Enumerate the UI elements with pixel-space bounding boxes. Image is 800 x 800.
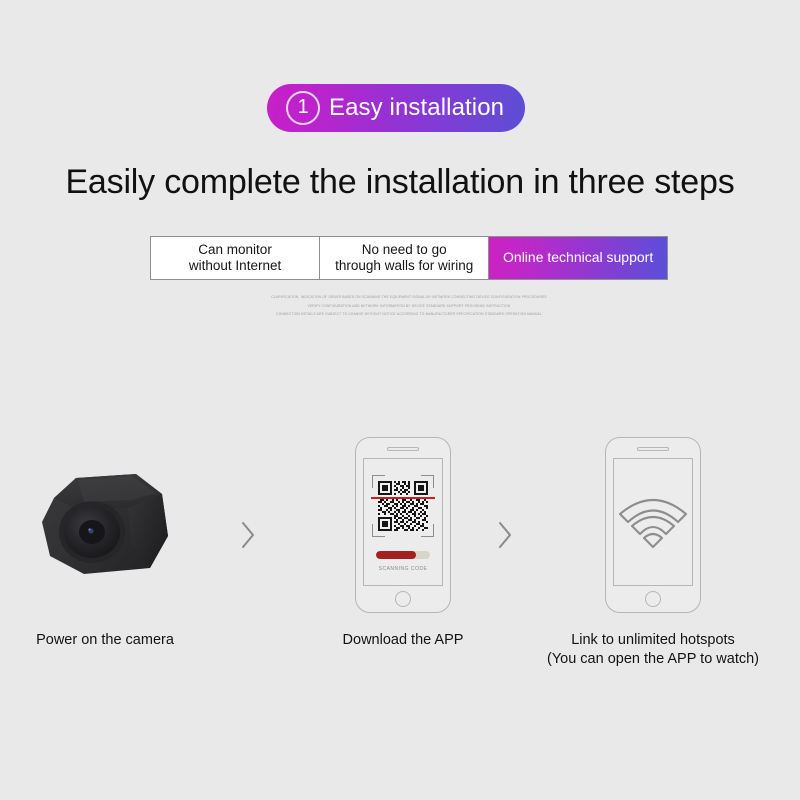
- feature-cell-no-wiring: No need to go through walls for wiring: [320, 237, 489, 279]
- mini-camera-illustration: [32, 464, 178, 586]
- step-caption-line-1: Download the APP: [278, 631, 528, 650]
- feature-cell-line-1: Can monitor: [189, 242, 281, 258]
- qr-scan-line: [371, 497, 435, 499]
- feature-cell-line-1: No need to go: [335, 242, 473, 258]
- feature-bar: Can monitor without Internet No need to …: [150, 236, 668, 280]
- step-badge-banner: 1 Easy installation: [267, 84, 525, 132]
- scan-progress-bar: [376, 551, 430, 559]
- step-2-caption: Download the APP: [278, 631, 528, 650]
- step-arrow-2: [490, 515, 520, 555]
- feature-cell-line-2: without Internet: [189, 258, 281, 274]
- step-3-caption: Link to unlimited hotspots (You can open…: [528, 631, 778, 669]
- phone-screen-wifi: [613, 458, 693, 586]
- feature-cell-online-support: Online technical support: [489, 237, 667, 279]
- phone-home-button-icon: [395, 591, 411, 607]
- step-1-visual: [0, 425, 230, 625]
- wifi-arcs: [616, 494, 690, 550]
- fine-print-line: VERIFY CONFIGURATION AND NETWORK INFORMA…: [150, 302, 668, 311]
- step-3-visual: [528, 425, 778, 625]
- phone-speaker-icon: [637, 447, 669, 451]
- step-number-circle: 1: [286, 91, 320, 125]
- step-3-link-hotspots: Link to unlimited hotspots (You can open…: [528, 425, 778, 695]
- chevron-right-icon: [239, 520, 257, 550]
- phone-home-button-icon: [645, 591, 661, 607]
- step-caption-line-2: (You can open the APP to watch): [528, 650, 778, 669]
- step-caption-line-1: Link to unlimited hotspots: [528, 631, 778, 650]
- wifi-signal-icon: [616, 494, 690, 550]
- fine-print-text: CLARIFICATION, INDICATION OF ORDER BASED…: [150, 293, 668, 319]
- chevron-right-icon: [496, 520, 514, 550]
- installation-steps-row: Power on the camera: [0, 425, 800, 695]
- phone-illustration-qr: SCANNING CODE: [355, 437, 451, 613]
- mini-camera-icon: [32, 464, 178, 586]
- feature-cell-no-internet: Can monitor without Internet: [151, 237, 320, 279]
- step-1-power-on-camera: Power on the camera: [0, 425, 230, 695]
- step-caption-line-1: Power on the camera: [0, 631, 230, 650]
- scan-status-label: SCANNING CODE: [364, 566, 442, 572]
- feature-cell-line-2: through walls for wiring: [335, 258, 473, 274]
- fine-print-line: CONNECTION DETAILS ARE SUBJECT TO CHANGE…: [150, 310, 668, 319]
- step-arrow-1: [233, 515, 263, 555]
- phone-speaker-icon: [387, 447, 419, 451]
- step-2-download-app: SCANNING CODE Download the APP: [278, 425, 528, 695]
- phone-screen-qr: SCANNING CODE: [363, 458, 443, 586]
- feature-cell-line-1: Online technical support: [503, 249, 653, 266]
- fine-print-line: CLARIFICATION, INDICATION OF ORDER BASED…: [150, 293, 668, 302]
- scan-progress-fill: [376, 551, 416, 559]
- qr-scanner-frame: [372, 475, 434, 537]
- step-1-caption: Power on the camera: [0, 631, 230, 650]
- phone-illustration-wifi: [605, 437, 701, 613]
- step-number-label: 1: [297, 97, 308, 117]
- page-headline: Easily complete the installation in thre…: [0, 163, 800, 202]
- qr-code-icon: [378, 481, 428, 531]
- step-badge-title: Easy installation: [329, 94, 504, 122]
